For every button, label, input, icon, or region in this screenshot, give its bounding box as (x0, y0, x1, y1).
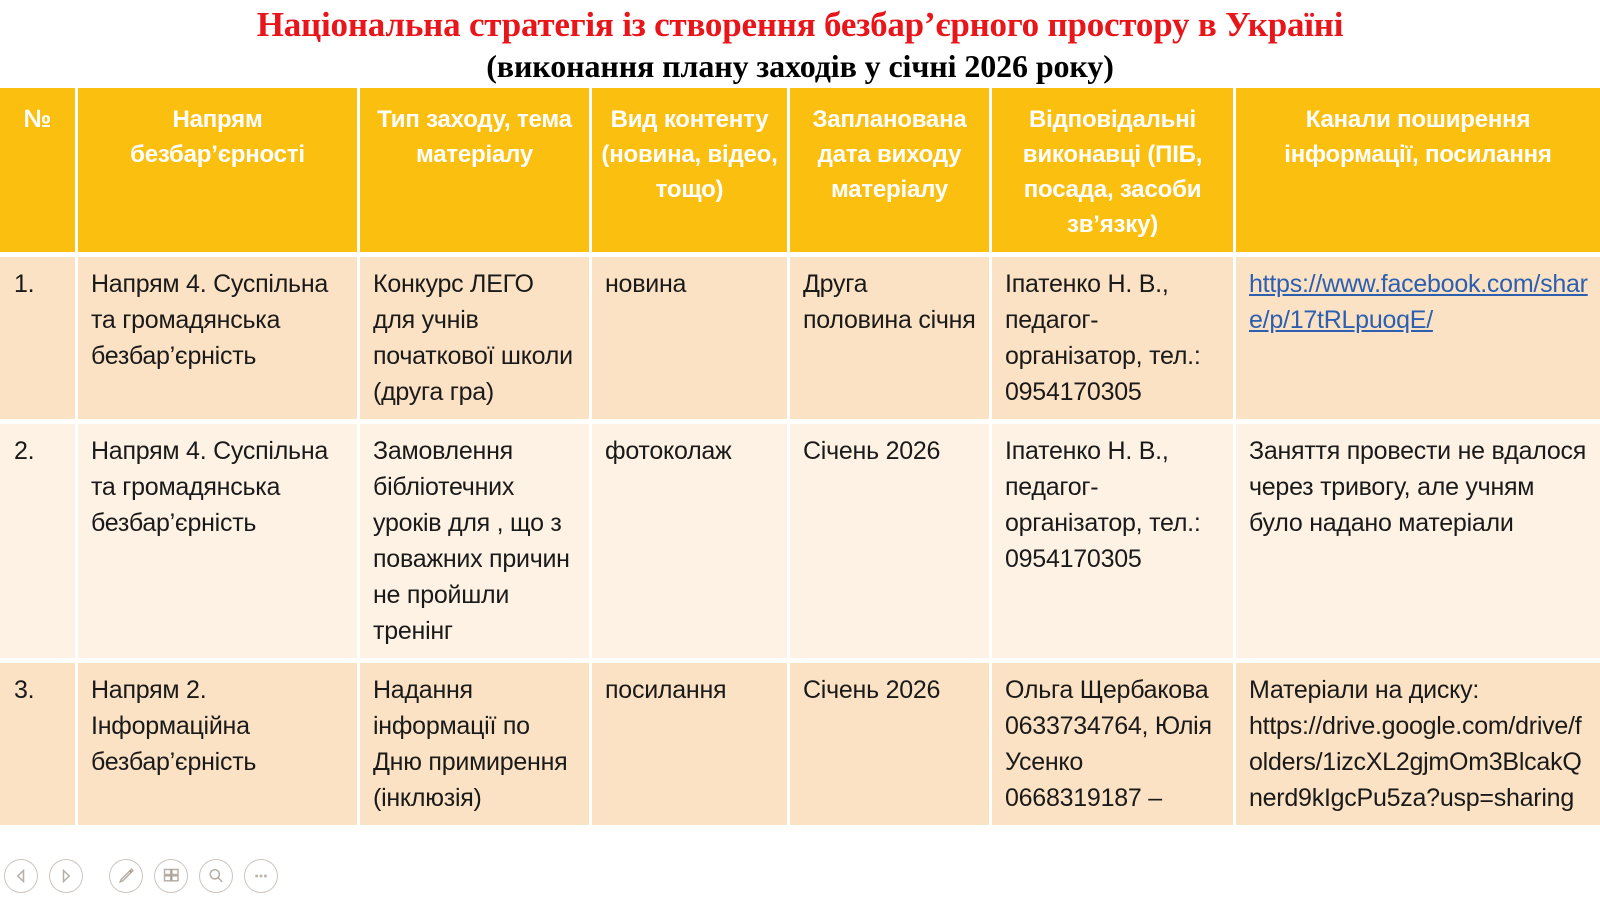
cell-channels: https://www.facebook.com/share/p/17tRLpu… (1236, 252, 1600, 419)
column-header-event-type: Тип заходу, тема матеріалу (360, 88, 592, 252)
title-block: Національна стратегія із створення безба… (0, 0, 1600, 86)
slide-subtitle: (виконання плану заходів у січні 2026 ро… (0, 46, 1600, 86)
slide-title: Національна стратегія із створення безба… (0, 4, 1600, 46)
measures-plan-table: № Напрям безбар’єрності Тип заходу, тема… (0, 88, 1600, 825)
drive-link-text: Матеріали на диску: https://drive.google… (1249, 676, 1582, 812)
table-header-row: № Напрям безбар’єрності Тип заходу, тема… (0, 88, 1600, 252)
cell-direction: Напрям 2. Інформаційна безбар’єрність (78, 658, 360, 825)
column-header-responsible: Відповідальні виконавці (ПІБ, посада, за… (992, 88, 1236, 252)
cell-responsible: Ольга Щербакова 0633734764, Юлія Усенко … (992, 658, 1236, 825)
table-row: 1. Напрям 4. Суспільна та громадянська б… (0, 252, 1600, 419)
presenter-toolbar (4, 859, 278, 893)
pen-tool-button[interactable] (109, 859, 143, 893)
channels-note: Заняття провести не вдалося через тривог… (1249, 437, 1586, 537)
presentation-slide: Національна стратегія із створення безба… (0, 0, 1600, 901)
cell-planned-date: Друга половина січня (790, 252, 992, 419)
grid-slides-icon (160, 865, 182, 887)
cell-number: 1. (0, 252, 78, 419)
more-options-button[interactable] (244, 859, 278, 893)
column-header-planned-date: Запланована дата виходу матеріалу (790, 88, 992, 252)
column-header-direction: Напрям безбар’єрності (78, 88, 360, 252)
caret-right-icon (56, 866, 76, 886)
cell-content-type: фотоколаж (592, 419, 790, 658)
cell-content-type: новина (592, 252, 790, 419)
table-body: 1. Напрям 4. Суспільна та громадянська б… (0, 252, 1600, 825)
column-header-content-type: Вид контенту (новина, відео, тощо) (592, 88, 790, 252)
facebook-link[interactable]: https://www.facebook.com/share/p/17tRLpu… (1249, 270, 1588, 334)
cell-channels: Заняття провести не вдалося через тривог… (1236, 419, 1600, 658)
cell-direction: Напрям 4. Суспільна та громадянська безб… (78, 252, 360, 419)
cell-planned-date: Січень 2026 (790, 419, 992, 658)
table-row: 2. Напрям 4. Суспільна та громадянська б… (0, 419, 1600, 658)
cell-event-type: Надання інформації по Дню примирення (ін… (360, 658, 592, 825)
zoom-button[interactable] (199, 859, 233, 893)
cell-event-type: Конкурс ЛЕГО для учнів початкової школи … (360, 252, 592, 419)
cell-content-type: посилання (592, 658, 790, 825)
previous-slide-button[interactable] (4, 859, 38, 893)
caret-left-icon (11, 866, 31, 886)
cell-number: 2. (0, 419, 78, 658)
cell-responsible: Іпатенко Н. В., педагог-організатор, тел… (992, 252, 1236, 419)
ellipsis-icon (250, 865, 272, 887)
cell-event-type: Замовлення бібліотечних уроків для , що … (360, 419, 592, 658)
cell-planned-date: Січень 2026 (790, 658, 992, 825)
table-row: 3. Напрям 2. Інформаційна безбар’єрність… (0, 658, 1600, 825)
cell-responsible: Іпатенко Н. В., педагог-організатор, тел… (992, 419, 1236, 658)
magnifier-icon (205, 865, 227, 887)
next-slide-button[interactable] (49, 859, 83, 893)
column-header-channels: Канали поширення інформації, посилання (1236, 88, 1600, 252)
cell-channels: Матеріали на диску: https://drive.google… (1236, 658, 1600, 825)
cell-direction: Напрям 4. Суспільна та громадянська безб… (78, 419, 360, 658)
cell-number: 3. (0, 658, 78, 825)
pen-icon (115, 865, 137, 887)
slide-grid-button[interactable] (154, 859, 188, 893)
column-header-number: № (0, 88, 78, 252)
